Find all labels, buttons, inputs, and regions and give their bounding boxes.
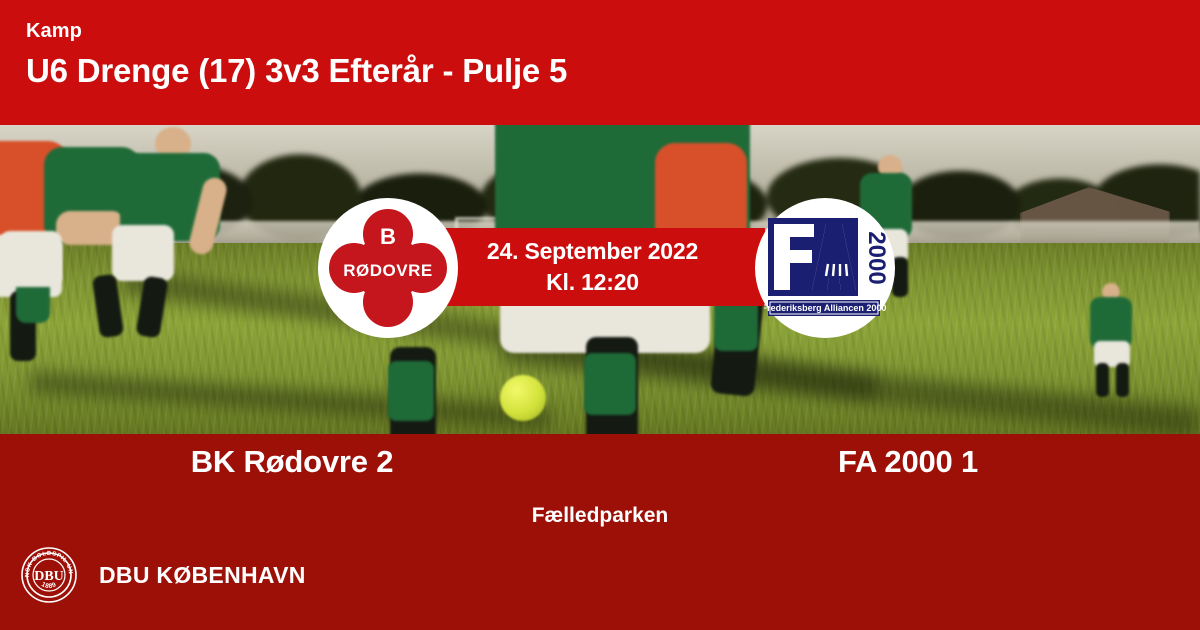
home-team-name: BK Rødovre 2 (0, 444, 602, 480)
badge-subtitle: Frederiksberg Alliancen 2000 (764, 303, 886, 313)
dbu-seal-icon: DANSK BOLDSPIL UNION 1889 DBU (20, 546, 78, 604)
match-datetime: 24. September 2022 Kl. 12:20 (450, 236, 735, 298)
match-time: Kl. 12:20 (450, 267, 735, 298)
venue-name: Fælledparken (0, 504, 1200, 528)
home-team-badge: B RØDOVRE (318, 198, 458, 338)
photo-player (112, 225, 174, 281)
away-team-badge: 2000 Frederiksberg Alliancen 2000 (755, 198, 895, 338)
header-kicker: Kamp (26, 20, 1200, 42)
footer-organization: DBU KØBENHAVN (99, 562, 306, 589)
photo-player (1116, 363, 1129, 397)
team-names-row: BK Rødovre 2 FA 2000 1 (0, 444, 1200, 480)
photo-player (388, 361, 434, 421)
badge-club-name: RØDOVRE (343, 261, 432, 280)
badge-year: 2000 (863, 231, 886, 284)
page-title: U6 Drenge (17) 3v3 Efterår - Pulje 5 (26, 51, 1200, 91)
photo-player (0, 231, 62, 287)
rodovre-club-logo-icon: B RØDOVRE (328, 208, 448, 328)
footer: DANSK BOLDSPIL UNION 1889 DBU DBU KØBENH… (20, 546, 306, 604)
badge-initial: B (380, 224, 396, 249)
match-date: 24. September 2022 (450, 236, 735, 267)
header-band: Kamp U6 Drenge (17) 3v3 Efterår - Pulje … (0, 0, 1200, 125)
photo-player (584, 353, 636, 415)
away-team-name: FA 2000 1 (602, 444, 1200, 480)
match-poster: Kamp U6 Drenge (17) 3v3 Efterår - Pulje … (0, 0, 1200, 630)
seal-monogram: DBU (34, 569, 64, 584)
photo-ball (500, 375, 546, 421)
fa2000-club-logo-icon: 2000 Frederiksberg Alliancen 2000 (764, 212, 886, 324)
photo-player (1096, 363, 1109, 397)
